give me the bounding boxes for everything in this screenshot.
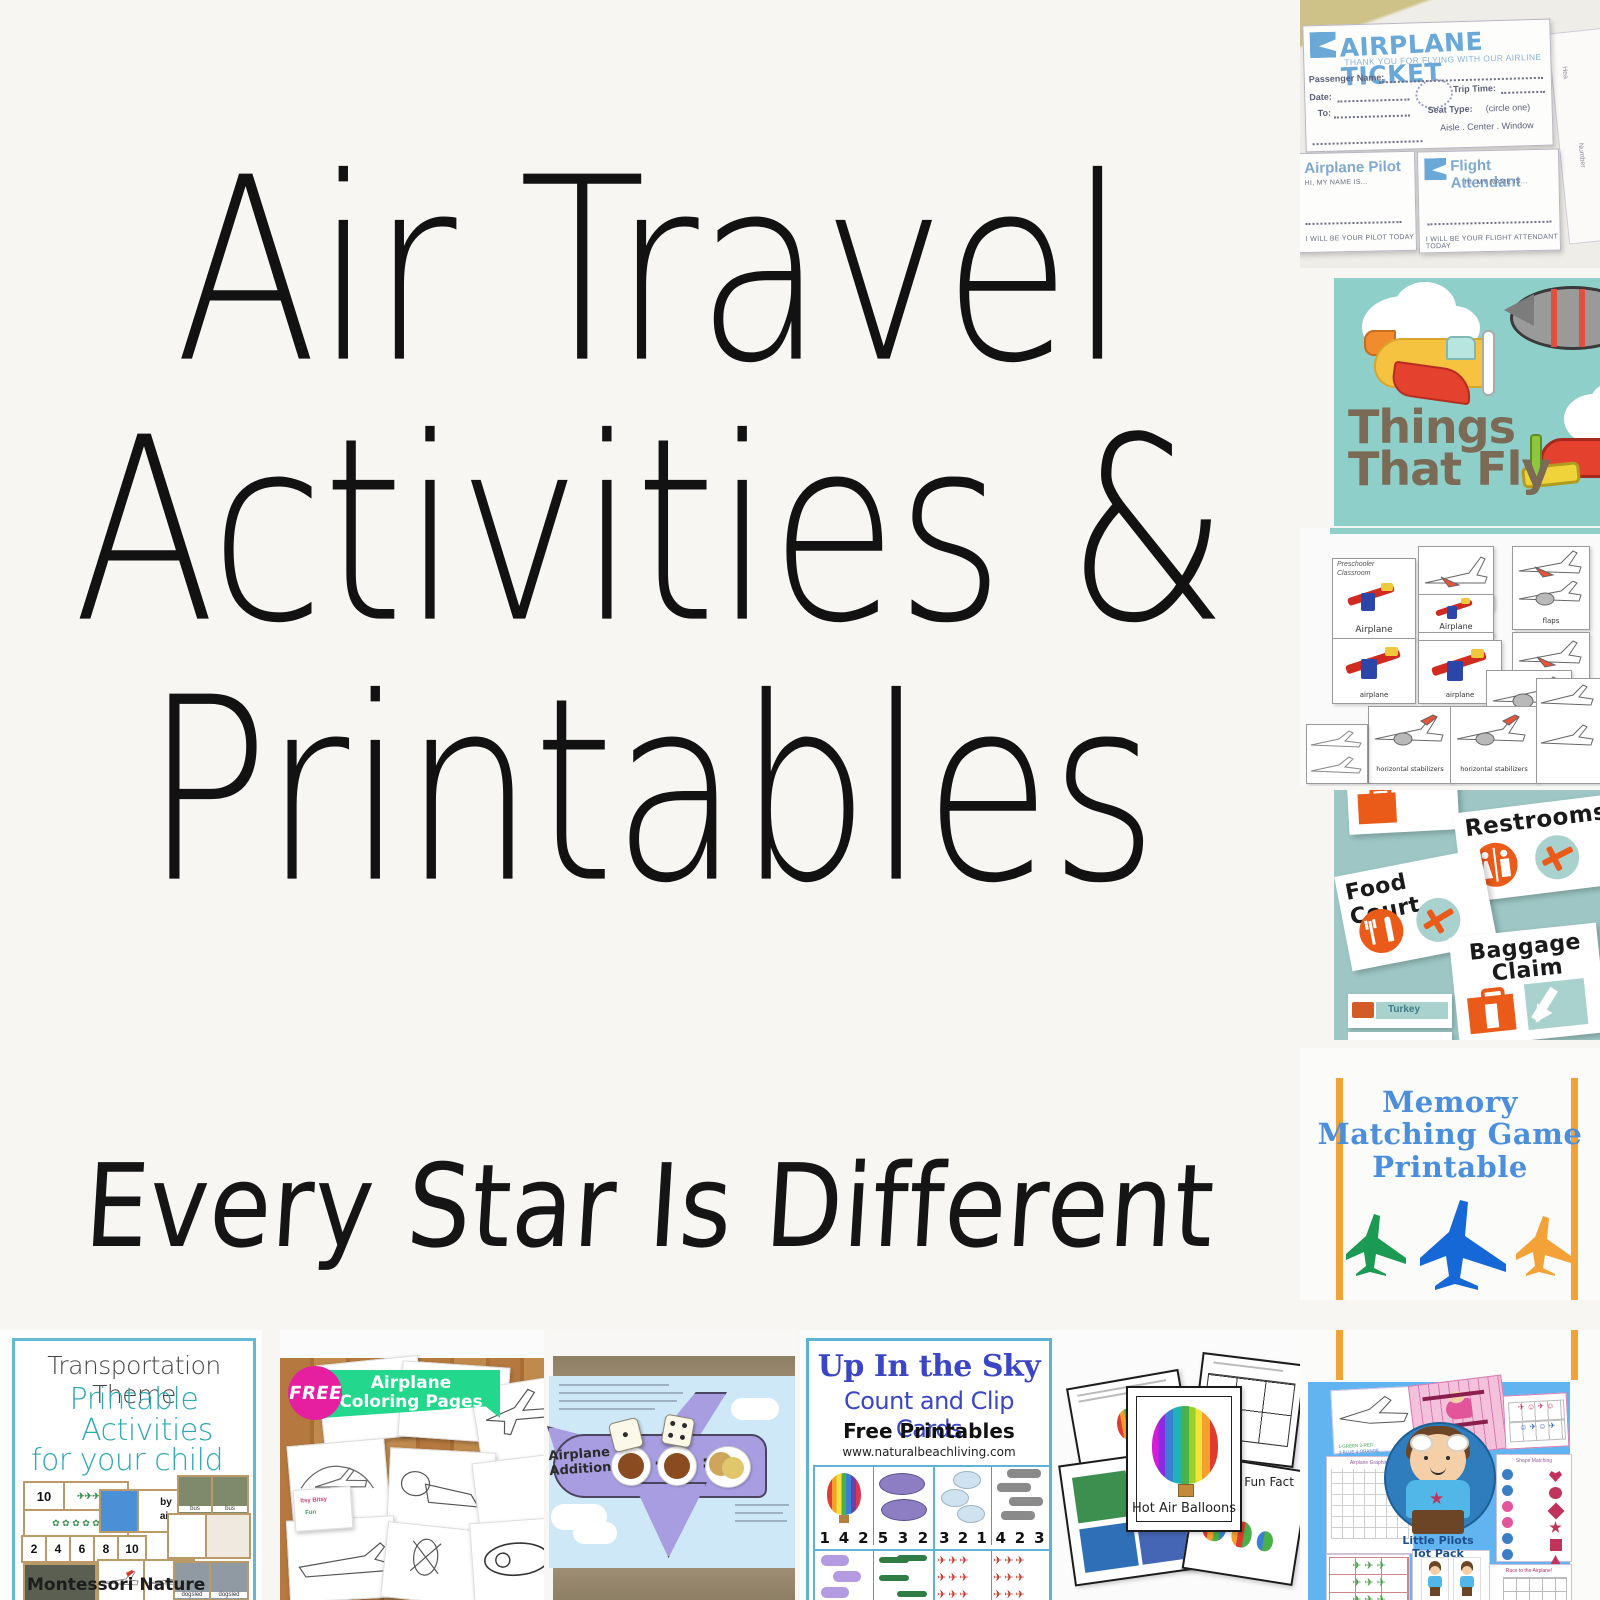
instruction-line-1 [559, 1384, 669, 1386]
mini-plane-icon-2 [1435, 597, 1475, 621]
airline-logo-icon [1309, 32, 1336, 59]
sky-frame: Up In the Sky Count and Clip Cards Free … [806, 1338, 1052, 1600]
bus-label-1: bus [179, 1506, 211, 1512]
instruction-line-4 [559, 1408, 655, 1410]
balloon-basket-1 [839, 1515, 849, 1523]
helicopter-icon-3 [821, 1587, 849, 1598]
parts-card-left-stack [1306, 724, 1368, 784]
hab-balloon-small-4 [1255, 1530, 1274, 1552]
poster-title-block: Air Travel Activities & Printables [0, 150, 1300, 1150]
addition-label: Airplane Addition [548, 1446, 612, 1480]
sign-baggage-top [1347, 790, 1460, 835]
memory-title-line-2: Matching Game [1300, 1118, 1600, 1150]
hab-fun-fact-label: Fun Fact [1244, 1475, 1294, 1489]
instruction-line-2 [559, 1392, 683, 1394]
page-title-line-1: Air Travel [175, 150, 1125, 396]
pilot-badge-title: Airplane Pilot [1304, 158, 1401, 177]
ticket-dots-2 [1337, 98, 1409, 103]
coloring-logo-card: Itsy Bitsy Fun [293, 1486, 354, 1532]
clip-num-3-a[interactable]: 3 [939, 1529, 949, 1547]
jet-icon-4 [1001, 1511, 1035, 1520]
pilot-title-line-1: Little Pilots [1384, 1534, 1492, 1547]
pilot-token-4 [1502, 1517, 1513, 1528]
helicopter-icon-2 [833, 1571, 861, 1582]
panel-airport-signs[interactable]: Restrooms Food Court [1334, 790, 1600, 1040]
fly-title-line-2: That Fly [1348, 448, 1550, 490]
jet-icon-blue [1418, 1198, 1512, 1290]
blimp-icon-2 [881, 1499, 927, 1521]
blimp-icon-1 [879, 1473, 925, 1495]
pilot-sheet-shape-matching: Shape Matching [1496, 1454, 1572, 1562]
sign-baggage-claim: Baggage Claim [1449, 923, 1600, 1040]
pilot-goggle-right-icon [1446, 1434, 1469, 1452]
attendant-logo-icon [1424, 158, 1446, 180]
transportation-footer: Montessori Nature [27, 1575, 205, 1595]
parts-top-accent-bar [1330, 528, 1600, 534]
ticket-field-to: To: [1318, 108, 1332, 118]
seq-num-2: 4 [45, 1535, 71, 1563]
green-jet-icon-4 [897, 1591, 927, 1597]
attendant-badge-foot: I WILL BE YOUR FLIGHT ATTENDANT TODAY [1426, 234, 1560, 251]
clip-num-1-c[interactable]: 2 [858, 1529, 868, 1547]
sky-title-1: Up In the Sky [809, 1349, 1049, 1384]
pilot-sheet-matching-cards: ✈ ✈ ✈✈ ✈ ✈✈ ✈ ✈ [1326, 1554, 1410, 1600]
transportation-frame: Transportation Theme Printable Activitie… [12, 1338, 256, 1600]
poster-canvas: Air Travel Activities & Printables Every… [0, 0, 1600, 1600]
airplane-outline-icon-7 [1453, 713, 1533, 759]
panel-little-pilots-tot-pack[interactable]: 1-GREEN 2-RED 3-BLUE 4-ORANGE ✈ ☺ ✈ ☺ ☺ … [1300, 1330, 1600, 1600]
attendant-badge-dots [1427, 220, 1551, 226]
things-that-fly-title: Things That Fly [1348, 406, 1550, 491]
clip-num-3-c[interactable]: 1 [976, 1529, 986, 1547]
clip-card-2: 3 2 1 4 2 3 [933, 1465, 1051, 1551]
clip-numbers-2: 5 3 2 [873, 1529, 933, 1547]
airplane-outline-icon-2 [1515, 549, 1587, 581]
clip-num-4-a[interactable]: 4 [995, 1529, 1005, 1547]
green-jet-icon-2 [897, 1555, 927, 1561]
glider-icon-3 [957, 1505, 985, 1523]
coloring-line-2: Coloring Pages [322, 1393, 500, 1412]
pilot-star-icon: ★ [1429, 1490, 1444, 1507]
panel-airplane-addition[interactable]: Airplane Addition + = [545, 1330, 795, 1600]
panel-airplane-ticket[interactable]: Hea Number AIRPLANE TICKET THANK YOU FOR… [1300, 0, 1600, 268]
glider-icon-1 [953, 1471, 981, 1489]
hab-balloon-basket [1178, 1484, 1194, 1497]
disc-inner-3b [722, 1457, 744, 1479]
mini-plane-icon-3 [1345, 645, 1403, 683]
jet-icon-green [1344, 1212, 1410, 1276]
pilot-sheet-race: Race to the Airplane! [1486, 1564, 1572, 1600]
parts-label-1: Airplane [1333, 625, 1415, 635]
pilot-title-line-2: Tot Pack [1384, 1547, 1492, 1560]
parts-card-hstab-2: horizontal stabilizers [1450, 706, 1538, 784]
arrow-diag-bg [1524, 978, 1588, 1030]
star-shape-icon [1549, 1521, 1562, 1534]
pilot-right-border [1571, 1330, 1578, 1380]
clip-cell-8: ✈✈✈✈✈✈✈✈✈ [991, 1551, 1049, 1600]
jet-icon-3 [1009, 1497, 1043, 1506]
cloud-icon-a3 [573, 1522, 617, 1544]
memory-title-line-1: Memory [1300, 1086, 1600, 1118]
number-card-ten: 10 [23, 1481, 65, 1511]
parts-label-flaps: flaps [1513, 617, 1589, 625]
green-jet-icon-3 [879, 1575, 909, 1581]
clip-num-2-c[interactable]: 2 [918, 1529, 928, 1547]
ticket-side-text-2: Number [1577, 143, 1587, 169]
die-2-pip-3 [668, 1432, 674, 1438]
blimp-band-2 [1579, 289, 1585, 347]
clip-num-3-b[interactable]: 2 [958, 1529, 968, 1547]
turkey-strip-card-2 [1348, 1032, 1452, 1040]
pilot-left-border [1336, 1330, 1343, 1380]
yellow-plane-window [1446, 336, 1476, 360]
circle-shape-icon [1549, 1487, 1562, 1499]
glider-icon-2 [941, 1489, 969, 1507]
die-2-pip-4 [680, 1434, 686, 1440]
yellow-plane-propeller [1482, 330, 1495, 396]
coloring-sheet-9 [469, 1517, 544, 1600]
cloud-icon-a1 [731, 1398, 779, 1420]
clip-cell-6 [873, 1551, 933, 1600]
airplane-outline-icon-10 [1309, 729, 1365, 753]
ticket-badge-attendant: Flight Attendant HI, MY NAME IS... I WIL… [1417, 149, 1561, 254]
coloring-line-1: Airplane [322, 1374, 500, 1393]
balloon-icon-1 [827, 1473, 861, 1515]
ticket-field-passenger: Passenger Name: [1309, 72, 1385, 84]
clip-num-2-b[interactable]: 3 [898, 1529, 908, 1547]
ticket-field-seat-options: Aisle . Center . Window [1440, 120, 1534, 133]
jet-icon-2 [997, 1483, 1031, 1492]
airplane-outline-icon-6 [1371, 713, 1449, 759]
die-1-pip-1 [622, 1432, 628, 1438]
ticket-field-seat-type: Seat Type: [1428, 104, 1473, 115]
blimp-band-1 [1551, 289, 1557, 347]
airplane-outline-icon-4 [1515, 639, 1587, 673]
jet-icon-1 [1007, 1469, 1041, 1478]
transportation-headline: Printable Activities for your child [15, 1385, 253, 1477]
mini-plane-icon-4 [1431, 647, 1489, 685]
disc-inner-2 [664, 1453, 690, 1479]
free-badge-text: FREE [287, 1383, 343, 1404]
hab-cover-card: Hot Air Balloons [1126, 1386, 1242, 1532]
panel-hot-air-balloons[interactable]: Fun Fact Hot Air Balloons [1054, 1330, 1304, 1600]
clip-num-4-b[interactable]: 2 [1015, 1529, 1025, 1547]
card-bus-2: bus [211, 1475, 249, 1515]
pilot-token-1 [1502, 1469, 1513, 1480]
counter-disc-2 [657, 1446, 697, 1486]
clip-num-1-b[interactable]: 4 [839, 1529, 849, 1547]
panel-count-and-clip-cards[interactable]: Up In the Sky Count and Clip Cards Free … [800, 1330, 1054, 1600]
memory-title: Memory Matching Game Printable [1300, 1086, 1600, 1183]
die-2 [661, 1414, 696, 1449]
parts-header-frag-2: Classroom [1337, 570, 1370, 577]
helicopter-icon-1 [821, 1555, 849, 1566]
page-title-line-3: Printables [144, 670, 1156, 916]
clip-card-4: ✈✈✈✈✈✈✈✈✈ ✈✈✈✈✈✈✈✈✈ [933, 1549, 1051, 1600]
blimp-fin-icon [1504, 294, 1534, 326]
transportation-line-4: for your child [15, 1446, 253, 1477]
heart-shape-icon [1549, 1471, 1562, 1482]
hab-balloon-main-icon [1152, 1406, 1218, 1484]
parts-card-flaps: flaps [1512, 546, 1590, 630]
parts-label-2: Airplane [1419, 622, 1493, 631]
restrooms-label: Restrooms [1463, 799, 1600, 842]
rules-line-3 [735, 1520, 787, 1522]
arrow-stem-1 [1413, 790, 1424, 797]
biplane-icon [1352, 1002, 1374, 1018]
pilot-badge-dots [1305, 220, 1401, 225]
parts-card-right-stack [1536, 678, 1600, 784]
clip-numbers-4: 4 2 3 [991, 1529, 1049, 1547]
parts-header-frag-1: Preschooler [1337, 561, 1374, 568]
free-badge: FREE [288, 1366, 342, 1420]
turkey-strip-card: Turkey [1348, 994, 1452, 1028]
ticket-badge-pilot: Airplane Pilot HI, MY NAME IS... I WILL … [1300, 151, 1417, 254]
pilot-token-6 [1502, 1549, 1513, 1560]
parts-label-hstab-2: horizontal stabilizers [1451, 765, 1537, 773]
attendant-badge-sub: HI, MY NAME IS... [1465, 178, 1528, 186]
seq-num-3: 6 [69, 1535, 95, 1563]
parts-card-hstab-1: horizontal stabilizers [1368, 706, 1452, 784]
pilot-badge-foot: I WILL BE YOUR PILOT TODAY [1306, 234, 1415, 243]
panel-airplane-parts-cards[interactable]: Preschooler Classroom Airplane Airplane [1300, 528, 1600, 786]
parts-label-4: airplane [1333, 691, 1415, 699]
pilot-badge-sub: HI, MY NAME IS... [1305, 179, 1368, 187]
plane-icon-restrooms [1533, 833, 1582, 882]
airplane-outline-icon-3 [1515, 581, 1587, 615]
mini-plane-icon-1 [1347, 581, 1397, 615]
luggage-handle-2 [1480, 987, 1505, 1003]
clip-num-2-a[interactable]: 5 [878, 1529, 888, 1547]
hab-card-title: Hot Air Balloons [1128, 1501, 1240, 1516]
clip-numbers-3: 3 2 1 [935, 1529, 991, 1547]
pilot-pack-title: Little Pilots Tot Pack [1384, 1534, 1492, 1560]
transportation-line-2: Printable [15, 1385, 253, 1416]
clip-num-4-c[interactable]: 3 [1034, 1529, 1044, 1547]
clip-cell-5 [815, 1551, 874, 1600]
airplane-outline-icon-9 [1539, 723, 1597, 757]
ticket-field-trip-time: Trip Time: [1453, 83, 1496, 94]
coloring-ribbon-text: Airplane Coloring Pages [322, 1374, 500, 1412]
ticket-field-circle-one: (circle one) [1486, 102, 1531, 113]
pilot-goggle-left-icon [1410, 1434, 1433, 1452]
dogsled-label-2: dogsled [211, 1592, 247, 1598]
turkey-label: Turkey [1388, 1004, 1420, 1015]
die-2-pip-1 [670, 1421, 676, 1427]
panel-things-that-fly[interactable]: Things That Fly [1334, 278, 1600, 526]
pilot-pants [1412, 1510, 1464, 1534]
disc-inner-1 [618, 1453, 644, 1479]
panel-memory-matching-game[interactable]: Memory Matching Game Printable [1300, 1048, 1600, 1300]
parts-card-2: Airplane [1418, 594, 1494, 636]
sky-url: www.naturalbeachliving.com [809, 1445, 1049, 1459]
shape-matching-label: Shape Matching [1497, 1458, 1571, 1464]
card-car-photo [205, 1513, 251, 1559]
airplane-outline-icon-8 [1539, 683, 1597, 717]
ticket-side-text-1: Hea [1561, 66, 1569, 80]
pilot-token-3 [1502, 1501, 1513, 1512]
clip-card-3 [813, 1549, 935, 1600]
race-label: Race to the Airplane! [1487, 1568, 1571, 1574]
pilot-token-5 [1502, 1533, 1513, 1544]
pilot-sheet-picture-cards: ✈ ☺ ✈ ☺ ☺ ✈ ☺ ✈ [1503, 1392, 1570, 1449]
clip-num-1-a[interactable]: 1 [819, 1529, 829, 1547]
ticket-dots-4 [1501, 90, 1545, 94]
ticket-dots-3 [1334, 114, 1410, 119]
ticket-dots-5 [1313, 139, 1423, 145]
clip-numbers-1: 1 4 2 [815, 1529, 873, 1547]
clip-cell-7: ✈✈✈✈✈✈✈✈✈ [935, 1551, 992, 1600]
instruction-line-3 [559, 1400, 677, 1402]
square-shape-icon [1550, 1539, 1562, 1551]
parts-card-header: Preschooler Classroom Airplane [1332, 558, 1416, 640]
diamond-shape-icon [1548, 1503, 1565, 1520]
page-title-line-2: Activities & [73, 410, 1226, 656]
poster-subtitle: Every Star Is Different [0, 1139, 1304, 1274]
bus-label-2: bus [213, 1506, 247, 1512]
luggage-handle-1 [1369, 790, 1392, 800]
jet-icon-orange [1514, 1214, 1578, 1276]
pilot-token-2 [1502, 1485, 1513, 1496]
panel-airplane-coloring-pages[interactable]: Itsy Bitsy Fun Airplane Coloring Pages F… [280, 1330, 544, 1600]
panel-transportation-theme[interactable]: Transportation Theme Printable Activitie… [0, 1330, 262, 1600]
card-bus-1: bus [177, 1475, 213, 1515]
counter-disc-3 [705, 1446, 751, 1488]
parts-card-4: airplane [1332, 638, 1416, 704]
airplane-outline-icon-11 [1309, 755, 1365, 779]
seq-num-1: 2 [21, 1535, 47, 1563]
rules-line-1 [735, 1504, 789, 1506]
clip-card-1: 1 4 2 5 3 2 [813, 1465, 935, 1551]
parts-label-hstab-1: horizontal stabilizers [1369, 765, 1451, 773]
sky-title-3: Free Printables [809, 1419, 1049, 1443]
ticket-field-date: Date: [1309, 92, 1332, 103]
rules-line-2 [735, 1512, 783, 1514]
memory-title-line-3: Printable [1300, 1151, 1600, 1183]
ticket-main-card: AIRPLANE TICKET THANK YOU FOR FLYING WIT… [1302, 19, 1553, 153]
card-dogsled-2: dogsled [209, 1561, 249, 1600]
transportation-line-3: Activities [15, 1416, 253, 1447]
die-2-pip-2 [682, 1423, 688, 1429]
